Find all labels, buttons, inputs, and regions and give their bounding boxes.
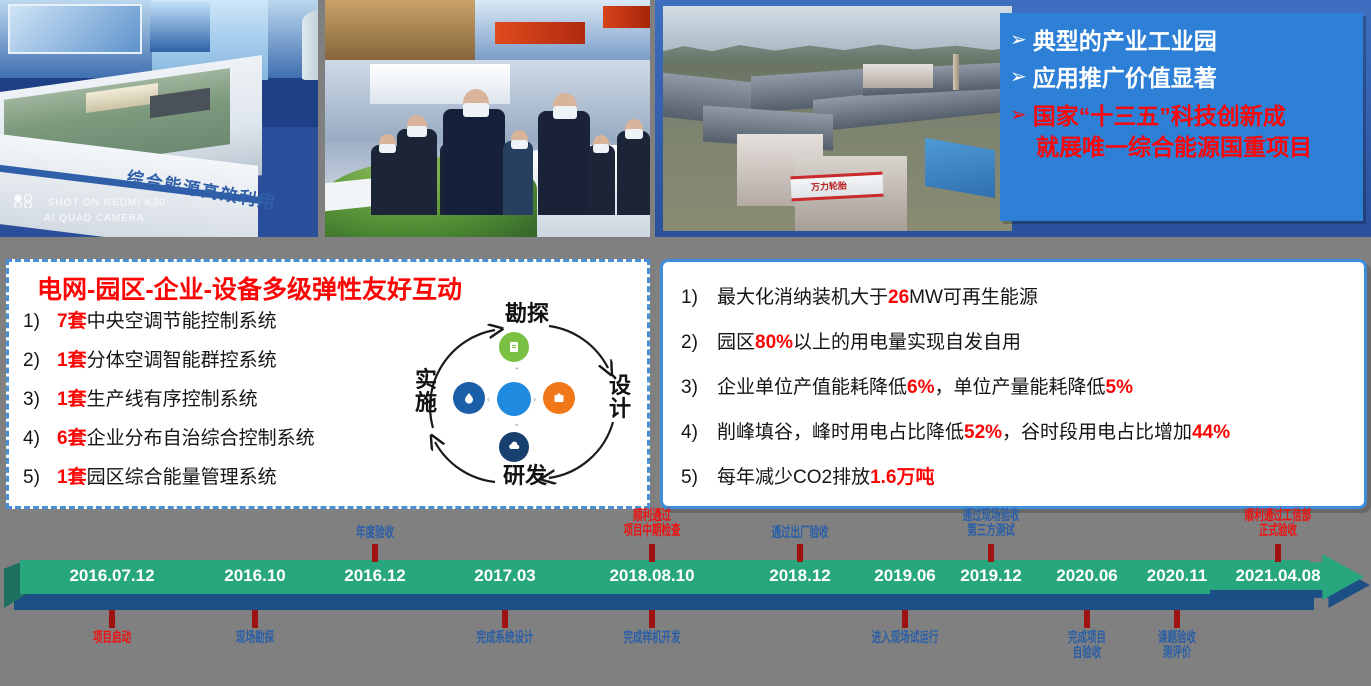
highlight-item-1-text: 典型的产业工业园 bbox=[1033, 27, 1217, 56]
chevron-down-icon: ⌄ bbox=[513, 418, 521, 429]
timeline-date: 2016.12 bbox=[344, 566, 405, 586]
timeline-marker bbox=[988, 544, 994, 562]
list-item-count: 1套 bbox=[57, 345, 87, 372]
industrial-park-aerial-photo: 万力轮胎 bbox=[663, 6, 1012, 231]
timeline-label: 顺利通过项目中期检查 bbox=[623, 508, 680, 538]
photo2-person-mask bbox=[593, 144, 609, 153]
timeline-date: 2019.12 bbox=[960, 566, 1021, 586]
timeline-marker bbox=[1084, 610, 1090, 628]
left-panel-title: 电网-园区-企业-设备多级弹性友好互动 bbox=[37, 270, 462, 306]
list-item-index: 3) bbox=[681, 377, 717, 399]
timeline-date: 2018.12 bbox=[769, 566, 830, 586]
list-item-metric: 44% bbox=[1192, 422, 1230, 444]
cloud-icon bbox=[499, 432, 529, 462]
timeline-label: 现场勘探 bbox=[236, 630, 274, 645]
node-center bbox=[497, 382, 531, 416]
timeline-marker bbox=[372, 544, 378, 562]
photo2-booth bbox=[370, 64, 510, 104]
leaders-visit-photo bbox=[325, 0, 650, 237]
photo2-person bbox=[397, 129, 437, 215]
timeline-label: 顺利通过工信部正式验收 bbox=[1245, 508, 1312, 538]
photo2-main-figure-mask bbox=[463, 103, 489, 117]
list-item-metric: 80% bbox=[755, 332, 793, 354]
list-item-text: 企业分布自治综合控制系统 bbox=[87, 423, 315, 450]
highlight-item-2-text: 应用推广价值显著 bbox=[1033, 64, 1217, 93]
chevron-right-icon: ➢ bbox=[1010, 102, 1027, 129]
highlight-item-3-text: 国家“十三五”科技创新成 bbox=[1033, 102, 1286, 131]
highlight-item-3-text-line2: 就展唯一综合能源国重项目 bbox=[1036, 133, 1312, 162]
cycle-label-top: 勘探 bbox=[505, 302, 549, 325]
cycle-label-right: 设 计 bbox=[607, 374, 633, 420]
timeline-label: 项目启动 bbox=[93, 630, 131, 645]
photo1-screen-wall bbox=[8, 4, 142, 54]
list-item-index: 1) bbox=[681, 287, 717, 309]
photo2-person bbox=[503, 141, 533, 215]
briefcase-icon bbox=[543, 382, 575, 414]
highlight-item-1: ➢ 典型的产业工业园 bbox=[1010, 27, 1357, 56]
timeline-marker bbox=[502, 610, 508, 628]
highlight-item-3-continued: 就展唯一综合能源国重项目 bbox=[1036, 133, 1357, 162]
list-item: 2) 1套 分体空调智能群控系统 bbox=[23, 345, 403, 372]
list-item: 4) 6套 企业分布自治综合控制系统 bbox=[23, 423, 403, 450]
list-item: 1) 最大化消纳装机大于 26 MW可再生能源 bbox=[681, 282, 1351, 309]
highlight-item-2: ➢ 应用推广价值显著 bbox=[1010, 64, 1357, 93]
list-item-text: 分体空调智能群控系统 bbox=[87, 345, 277, 372]
list-item-metric: 5% bbox=[1106, 377, 1133, 399]
list-item-index: 1) bbox=[23, 311, 57, 333]
exhibition-model-photo: 综合能源高效利用 SHOT ON REDMI K30 AI QUAD CAMER… bbox=[0, 0, 318, 237]
watermark-line-2: AI QUAD CAMERA bbox=[44, 212, 145, 225]
list-item: 5) 1套 园区综合能量管理系统 bbox=[23, 462, 403, 489]
highlight-callout-box: ➢ 典型的产业工业园 ➢ 应用推广价值显著 ➢ 国家“十三五”科技创新成 就展唯… bbox=[1000, 13, 1363, 221]
left-panel-list: 1) 7套 中央空调节能控制系统 2) 1套 分体空调智能群控系统 3) 1套 … bbox=[23, 306, 403, 501]
photo2-person bbox=[587, 145, 615, 215]
photo2-main-figure bbox=[443, 109, 505, 215]
list-item-index: 2) bbox=[681, 332, 717, 354]
photo1-watermark: SHOT ON REDMI K30 AI QUAD CAMERA bbox=[12, 194, 166, 225]
process-cycle-diagram: 勘探 设 计 研发 实 施 ⌃ ⌄ ‹ › bbox=[399, 306, 649, 502]
watermark-line-1: SHOT ON REDMI K30 bbox=[48, 198, 166, 209]
timeline-marker bbox=[109, 610, 115, 628]
list-item-text: MW可再生能源 bbox=[909, 282, 1038, 309]
chevron-up-icon: ⌃ bbox=[513, 366, 521, 377]
photo2-person-mask bbox=[625, 129, 643, 139]
timeline-date: 2021.04.08 bbox=[1235, 566, 1320, 586]
list-item-text: ，单位产量能耗降低 bbox=[934, 372, 1105, 399]
cycle-label-bottom: 研发 bbox=[503, 464, 547, 487]
photo2-person-mask bbox=[553, 106, 577, 119]
list-item-text: 每年减少CO2排放 bbox=[717, 462, 870, 489]
timeline-label: 年度验收 bbox=[356, 525, 394, 540]
cycle-label-left: 实 施 bbox=[413, 368, 439, 414]
photo2-person bbox=[617, 131, 650, 215]
photo3-warehouse bbox=[863, 64, 933, 88]
list-item-metric: 26 bbox=[888, 287, 909, 309]
list-item: 4) 削峰填谷，峰时用电占比降低 52% ，谷时段用电占比增加 44% bbox=[681, 417, 1351, 444]
photo3-banner-text: 万力轮胎 bbox=[811, 178, 848, 193]
list-item-index: 3) bbox=[23, 389, 57, 411]
document-icon bbox=[499, 332, 529, 362]
photo2-person-mask bbox=[511, 140, 528, 149]
timeline-date: 2016.07.12 bbox=[69, 566, 154, 586]
timeline-date: 2020.11 bbox=[1147, 566, 1208, 586]
list-item-index: 5) bbox=[23, 467, 57, 489]
photo1-cooling-tower bbox=[302, 10, 318, 80]
timeline-marker bbox=[797, 544, 803, 562]
redmi-logo-icon bbox=[12, 194, 38, 212]
list-item-text: 生产线有序控制系统 bbox=[87, 384, 258, 411]
list-item-count: 6套 bbox=[57, 423, 87, 450]
project-timeline: 2016.07.12项目启动2016.10现场勘探2016.12年度验收2017… bbox=[0, 516, 1371, 686]
timeline-label: 完成系统设计 bbox=[476, 630, 533, 645]
photo3-chimney bbox=[953, 54, 959, 90]
list-item-index: 4) bbox=[681, 422, 717, 444]
highlight-item-3: ➢ 国家“十三五”科技创新成 bbox=[1010, 102, 1357, 131]
timeline-label: 课题验收测评价 bbox=[1158, 630, 1196, 660]
list-item-index: 5) bbox=[681, 467, 717, 489]
timeline-date: 2018.08.10 bbox=[609, 566, 694, 586]
timeline-date: 2020.06 bbox=[1056, 566, 1117, 586]
list-item-text: ，谷时段用电占比增加 bbox=[1002, 417, 1192, 444]
photo2-red-screen-2 bbox=[603, 6, 650, 28]
timeline-date: 2017.03 bbox=[474, 566, 535, 586]
list-item-text: 园区综合能量管理系统 bbox=[87, 462, 277, 489]
right-panel-list: 1) 最大化消纳装机大于 26 MW可再生能源 2) 园区 80% 以上的用电量… bbox=[681, 282, 1351, 507]
list-item-index: 4) bbox=[23, 428, 57, 450]
chevron-right-icon: ➢ bbox=[1010, 27, 1027, 54]
list-item-metric: 6% bbox=[907, 377, 934, 399]
timeline-marker bbox=[902, 610, 908, 628]
list-item-metric: 1.6万吨 bbox=[870, 462, 934, 489]
chevron-left-icon: ‹ bbox=[487, 394, 490, 404]
timeline-marker bbox=[1275, 544, 1281, 562]
slide-canvas: 综合能源高效利用 SHOT ON REDMI K30 AI QUAD CAMER… bbox=[0, 0, 1371, 686]
list-item-metric: 52% bbox=[964, 422, 1002, 444]
photo2-red-screen bbox=[495, 22, 585, 44]
right-panel: 1) 最大化消纳装机大于 26 MW可再生能源 2) 园区 80% 以上的用电量… bbox=[660, 259, 1367, 509]
timeline-marker bbox=[1174, 610, 1180, 628]
chevron-right-icon: › bbox=[533, 394, 536, 404]
list-item: 5) 每年减少CO2排放 1.6万吨 bbox=[681, 462, 1351, 489]
list-item-text: 企业单位产值能耗降低 bbox=[717, 372, 907, 399]
timeline-marker bbox=[649, 610, 655, 628]
list-item-text: 以上的用电量实现自发自用 bbox=[793, 327, 1021, 354]
list-item: 1) 7套 中央空调节能控制系统 bbox=[23, 306, 403, 333]
list-item-text: 最大化消纳装机大于 bbox=[717, 282, 888, 309]
photo1-side-screen bbox=[150, 2, 210, 52]
drop-icon bbox=[453, 382, 485, 414]
timeline-date: 2016.10 bbox=[224, 566, 285, 586]
list-item-index: 2) bbox=[23, 350, 57, 372]
list-item: 3) 企业单位产值能耗降低 6% ，单位产量能耗降低 5% bbox=[681, 372, 1351, 399]
list-item-count: 1套 bbox=[57, 462, 87, 489]
timeline-marker bbox=[649, 544, 655, 562]
list-item-count: 7套 bbox=[57, 306, 87, 333]
list-item-count: 1套 bbox=[57, 384, 87, 411]
photo3-banner: 万力轮胎 bbox=[790, 172, 883, 202]
list-item-text: 中央空调节能控制系统 bbox=[87, 306, 277, 333]
timeline-date: 2019.06 bbox=[874, 566, 935, 586]
list-item: 2) 园区 80% 以上的用电量实现自发自用 bbox=[681, 327, 1351, 354]
list-item-text: 削峰填谷，峰时用电占比降低 bbox=[717, 417, 964, 444]
timeline-label: 完成样机开发 bbox=[623, 630, 680, 645]
timeline-label: 通过现场验收第三方测试 bbox=[962, 508, 1019, 538]
highlight-list: ➢ 典型的产业工业园 ➢ 应用推广价值显著 ➢ 国家“十三五”科技创新成 就展唯… bbox=[1000, 13, 1363, 163]
timeline-label: 完成项目自验收 bbox=[1068, 630, 1106, 660]
left-panel: 电网-园区-企业-设备多级弹性友好互动 1) 7套 中央空调节能控制系统 2) … bbox=[6, 259, 650, 509]
chevron-right-icon: ➢ bbox=[1010, 64, 1027, 91]
photo2-person-mask bbox=[379, 144, 396, 153]
list-item: 3) 1套 生产线有序控制系统 bbox=[23, 384, 403, 411]
timeline-label: 进入现场试运行 bbox=[872, 630, 939, 645]
photo2-person bbox=[538, 111, 590, 215]
timeline-marker bbox=[252, 610, 258, 628]
timeline-label: 通过出厂验收 bbox=[771, 525, 828, 540]
photo2-person-mask bbox=[407, 126, 427, 137]
list-item-text: 园区 bbox=[717, 327, 755, 354]
